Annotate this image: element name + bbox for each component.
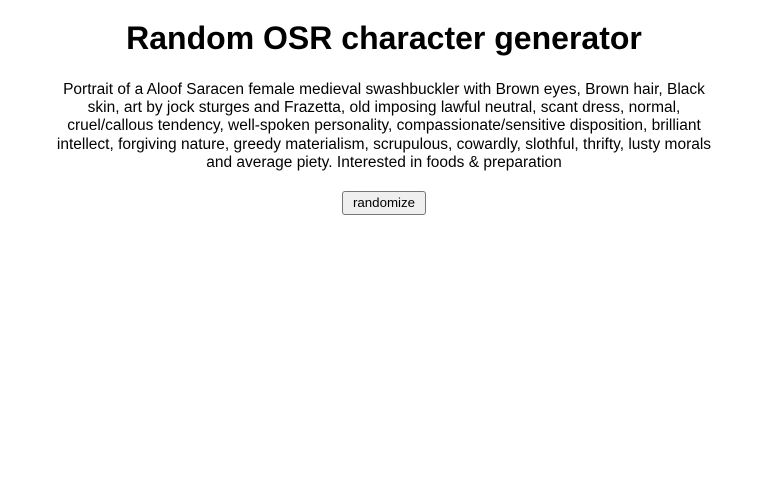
page-title: Random OSR character generator bbox=[0, 0, 768, 57]
page-root: Random OSR character generator Portrait … bbox=[0, 0, 768, 480]
button-row: randomize bbox=[0, 172, 768, 215]
randomize-button[interactable]: randomize bbox=[342, 191, 426, 215]
character-description: Portrait of a Aloof Saracen female medie… bbox=[48, 57, 720, 172]
